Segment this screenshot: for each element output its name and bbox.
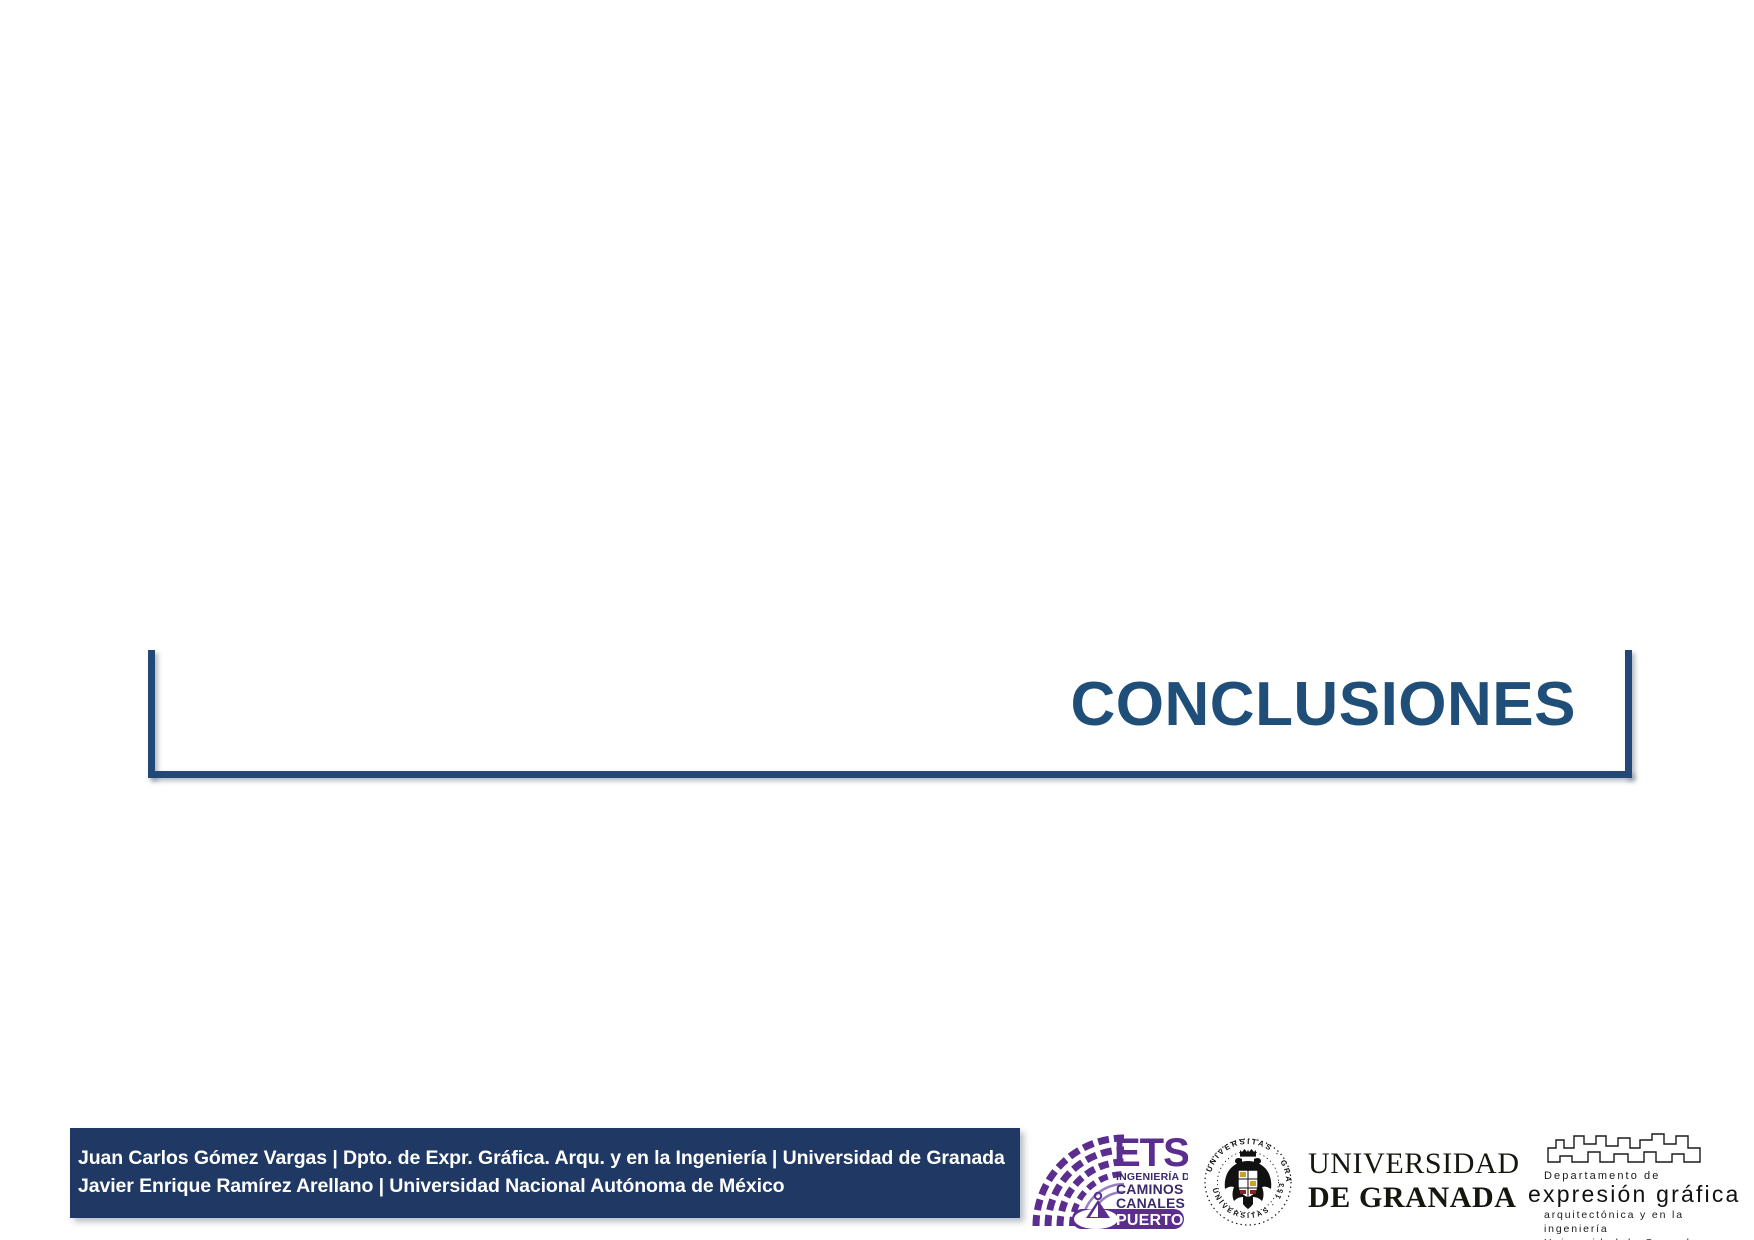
presentation-slide: CONCLUSIONES Juan Carlos Gómez Vargas | … [0,0,1754,1240]
ugr-wordmark-line-2: DE GRANADA [1308,1181,1508,1215]
ugr-seal-icon: UNIVERSITAS · GRANATENSIS UNIVERSITAS · … [1198,1132,1298,1232]
svg-text:CANALES Y: CANALES Y [1116,1195,1188,1211]
slide-footer: Juan Carlos Gómez Vargas | Dpto. de Expr… [0,1126,1754,1240]
page-title: CONCLUSIONES [148,648,1576,760]
dpto-line-3: arquitectónica y en la ingeniería [1544,1208,1748,1236]
ugr-wordmark: UNIVERSIDAD DE GRANADA [1308,1148,1508,1214]
svg-text:ETS: ETS [1114,1131,1188,1175]
ugr-wordmark-line-1: UNIVERSIDAD [1308,1147,1508,1181]
footer-logo-group: ETS INGENIERÍA DE CAMINOS CANALES Y PUER… [1020,1126,1754,1240]
bracket-bottom-edge [148,771,1632,778]
dpto-line-2: expresión gráfica [1528,1182,1748,1208]
footer-author-line-1: Juan Carlos Gómez Vargas | Dpto. de Expr… [78,1145,1020,1173]
dpto-expresion-grafica-logo: Departamento de expresión gráfica arquit… [1528,1130,1748,1236]
svg-text:PUERTOS: PUERTOS [1116,1212,1188,1229]
dpto-line-4: Universidad de Granada [1544,1236,1748,1240]
ets-caminos-logo: ETS INGENIERÍA DE CAMINOS CANALES Y PUER… [1028,1130,1188,1234]
bracket-right-edge [1625,650,1632,778]
footer-author-line-2: Javier Enrique Ramírez Arellano | Univer… [78,1173,1020,1201]
footer-authors-bar: Juan Carlos Gómez Vargas | Dpto. de Expr… [70,1128,1020,1218]
dpto-skyline-icon [1544,1130,1748,1169]
